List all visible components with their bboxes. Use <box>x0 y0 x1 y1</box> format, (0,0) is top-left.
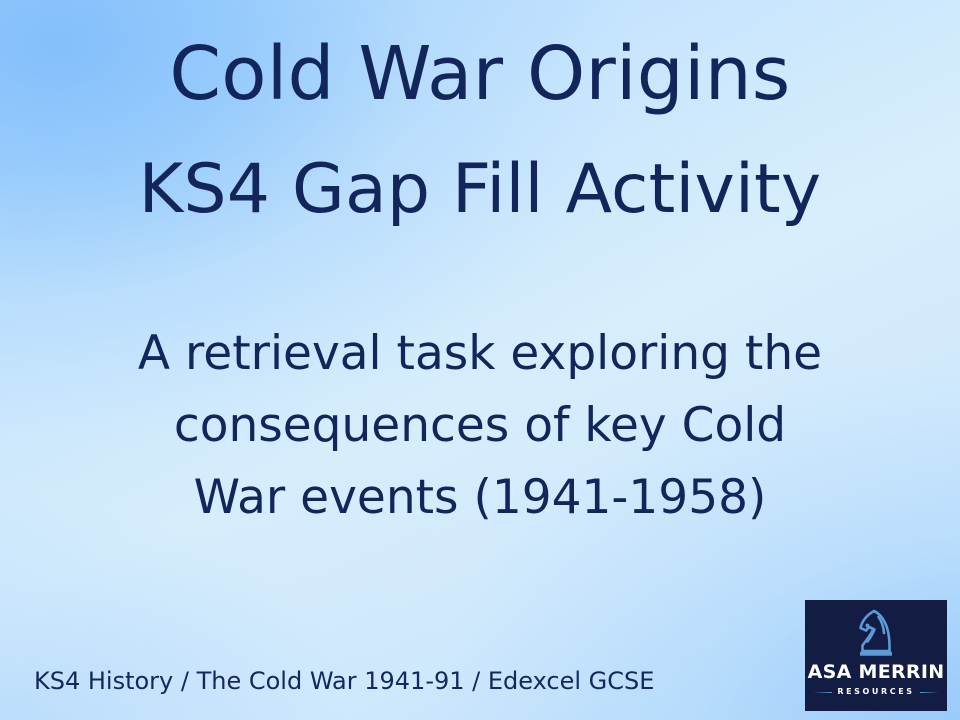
subtitle-line-1: A retrieval task exploring the <box>0 318 960 390</box>
presentation-slide: Cold War Origins KS4 Gap Fill Activity A… <box>0 0 960 720</box>
logo-rule-right <box>920 692 939 693</box>
title-line-primary: Cold War Origins <box>0 26 960 122</box>
logo-wordmark: ASA MERRIN <box>808 661 945 683</box>
logo-subtext: RESOURCES <box>832 687 919 697</box>
publisher-logo: ASA MERRIN RESOURCES <box>805 600 947 711</box>
footer-credit-text: KS4 History / The Cold War 1941-91 / Ede… <box>34 666 654 696</box>
title-line-secondary: KS4 Gap Fill Activity <box>0 144 960 236</box>
slide-subtitle: A retrieval task exploring the consequen… <box>0 318 960 534</box>
subtitle-line-2: consequences of key Cold <box>0 390 960 462</box>
logo-rule-left <box>813 692 832 693</box>
chess-knight-icon <box>854 607 898 657</box>
subtitle-line-3: War events (1941-1958) <box>0 462 960 534</box>
slide-title: Cold War Origins KS4 Gap Fill Activity <box>0 26 960 236</box>
logo-subtext-row: RESOURCES <box>813 687 939 697</box>
